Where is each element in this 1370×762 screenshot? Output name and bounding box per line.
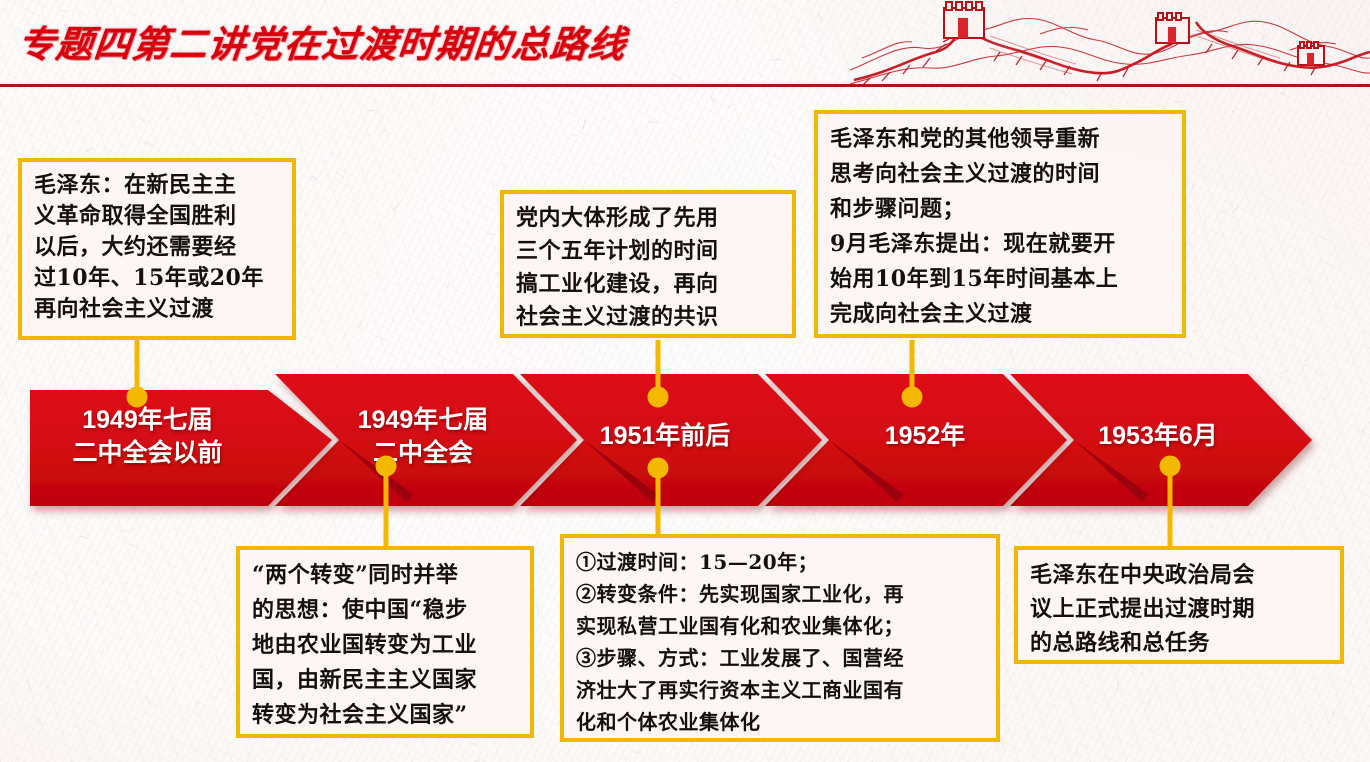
header-divider: [0, 84, 1370, 87]
page-header: 专题四第二讲党在过渡时期的总路线: [0, 0, 1370, 88]
callout-box-6[interactable]: 毛泽东在中央政治局会 议上正式提出过渡时期 的总路线和总任务: [1014, 546, 1344, 664]
callout-box-5[interactable]: 毛泽东和党的其他领导重新 思考向社会主义过渡的时间 和步骤问题； 9月毛泽东提出…: [814, 110, 1186, 338]
page-title: 专题四第二讲党在过渡时期的总路线: [16, 22, 629, 66]
callout-box-2[interactable]: “两个转变”同时并举 的思想：使中国“稳步 地由农业国转变为工业 国，由新民主主…: [236, 546, 534, 738]
great-wall-icon: [850, 0, 1370, 88]
timeline-arrow-segment-1[interactable]: [30, 390, 332, 506]
callout-box-4[interactable]: ①过渡时间：15—20年； ②转变条件：先实现国家工业化，再 实现私营工业国有化…: [560, 534, 1000, 742]
callout-box-1[interactable]: 毛泽东：在新民主主 义革命取得全国胜利 以后，大约还需要经 过10年、15年或2…: [18, 158, 296, 340]
callout-box-3[interactable]: 党内大体形成了先用 三个五年计划的时间 搞工业化建设，再向 社会主义过渡的共识: [500, 190, 796, 338]
timeline-arrow-track: [0, 360, 1370, 520]
